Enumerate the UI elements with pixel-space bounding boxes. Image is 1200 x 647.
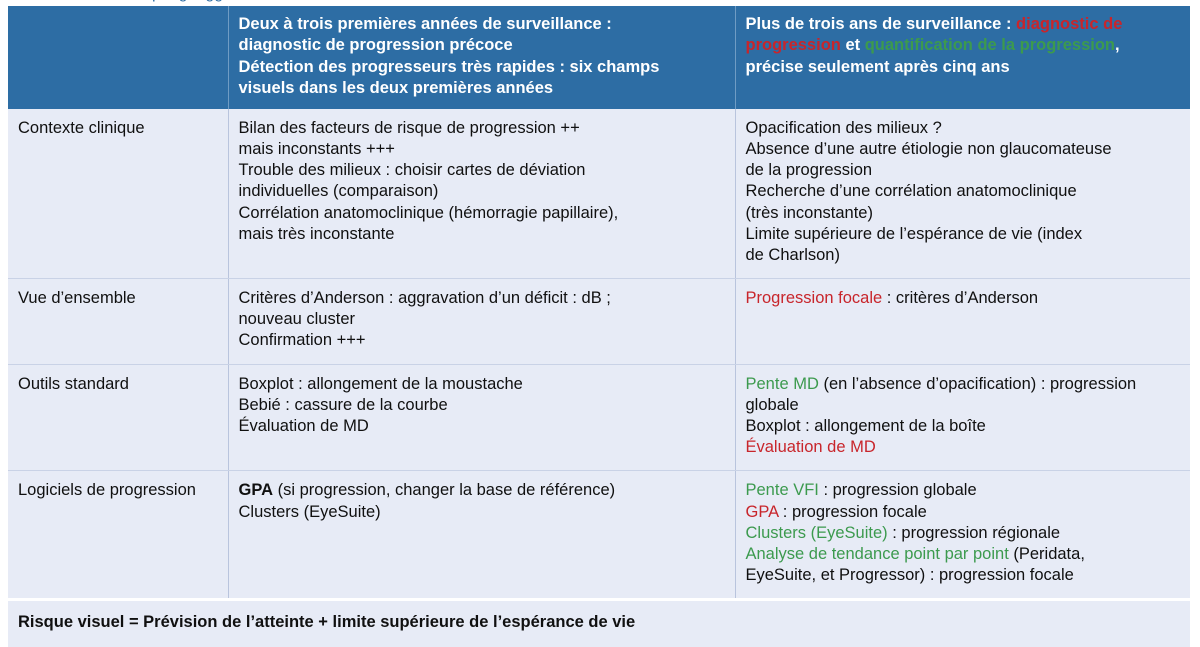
late-3-line-5-seg-1: EyeSuite, et Progressor) : progression f… <box>746 566 1074 584</box>
cell-late-surveillance: Opacification des milieux ?Absence d’une… <box>735 109 1190 279</box>
late-3-line-2: GPA : progression focale <box>746 502 1181 523</box>
early-1-line-3: Confirmation +++ <box>239 330 725 351</box>
early-3-line-2-seg-1: Clusters (EyeSuite) <box>239 503 381 521</box>
table-row: Logiciels de progressionGPA (si progress… <box>8 471 1190 600</box>
footer-row: Risque visuel = Prévision de l’atteinte … <box>8 600 1190 647</box>
row-label-cell: Vue d’ensemble <box>8 279 228 365</box>
row-label: Logiciels de progression <box>18 481 196 499</box>
cell-early-surveillance: Bilan des facteurs de risque de progress… <box>228 109 735 279</box>
footer-summary-text: Risque visuel = Prévision de l’atteinte … <box>8 600 1190 647</box>
late-0-line-6: Limite supérieure de l’espérance de vie … <box>746 224 1181 245</box>
early-0-line-1: Bilan des facteurs de risque de progress… <box>239 118 725 139</box>
late-0-line-5: (très inconstante) <box>746 203 1181 224</box>
table-header: Deux à trois premières années de surveil… <box>8 6 1190 109</box>
header-col3-seg1: Plus de trois ans de surveillance : <box>746 15 1017 33</box>
progression-table-container: Deux à trois premières années de surveil… <box>8 6 1190 647</box>
early-0-line-2: mais inconstants +++ <box>239 139 725 160</box>
late-2-line-1-seg-1: Pente MD <box>746 375 819 393</box>
header-col2-line4: visuels dans les deux premières années <box>239 78 725 99</box>
early-0-line-4: individuelles (comparaison) <box>239 181 725 202</box>
late-3-line-4-seg-2: (Peridata, <box>1009 545 1085 563</box>
late-2-line-2: globale <box>746 395 1181 416</box>
early-3-line-1: GPA (si progression, changer la base de … <box>239 480 725 501</box>
early-0-line-5: Corrélation anatomoclinique (hémorragie … <box>239 203 725 224</box>
late-3-line-1-seg-2: : progression globale <box>819 481 977 499</box>
cell-late-surveillance: Pente VFI : progression globaleGPA : pro… <box>735 471 1190 600</box>
late-3-line-1-seg-1: Pente VFI <box>746 481 819 499</box>
late-3-line-5: EyeSuite, et Progressor) : progression f… <box>746 565 1181 586</box>
late-3-line-4: Analyse de tendance point par point (Per… <box>746 544 1181 565</box>
late-2-line-4-seg-1: Évaluation de MD <box>746 438 876 456</box>
late-1-line-1-seg-2: : critères d’Anderson <box>882 289 1038 307</box>
early-3-line-2: Clusters (EyeSuite) <box>239 502 725 523</box>
cut-off-caption-text: p... g... gg... <box>152 0 237 3</box>
header-col2-line3: Détection des progresseurs très rapides … <box>239 57 725 78</box>
late-2-line-2-seg-1: globale <box>746 396 799 414</box>
table-body: Contexte cliniqueBilan des facteurs de r… <box>8 109 1190 600</box>
header-col2-line1: Deux à trois premières années de surveil… <box>239 14 725 35</box>
late-0-line-3: de la progression <box>746 160 1181 181</box>
header-col3-seg3: et <box>841 36 865 54</box>
cell-early-surveillance: Critères d’Anderson : aggravation d’un d… <box>228 279 735 365</box>
early-0-line-3: Trouble des milieux : choisir cartes de … <box>239 160 725 181</box>
late-3-line-3-seg-1: Clusters (EyeSuite) <box>746 524 888 542</box>
early-2-line-2: Bebié : cassure de la courbe <box>239 395 725 416</box>
late-0-line-7: de Charlson) <box>746 245 1181 266</box>
table-row: Contexte cliniqueBilan des facteurs de r… <box>8 109 1190 279</box>
table-row: Vue d’ensembleCritères d’Anderson : aggr… <box>8 279 1190 365</box>
header-col3-seg4: quantification de la progression <box>865 36 1115 54</box>
row-label-cell: Outils standard <box>8 364 228 471</box>
early-2-line-1: Boxplot : allongement de la moustache <box>239 374 725 395</box>
late-0-line-4: Recherche d’une corrélation anatomoclini… <box>746 181 1181 202</box>
late-1-line-1: Progression focale : critères d’Anderson <box>746 288 1181 309</box>
cut-off-caption-sliver: p... g... gg... <box>0 0 1200 5</box>
late-0-line-2: Absence d’une autre étiologie non glauco… <box>746 139 1181 160</box>
row-label-cell: Contexte clinique <box>8 109 228 279</box>
header-cell-empty <box>8 6 228 109</box>
late-2-line-3-seg-1: Boxplot : allongement de la boîte <box>746 417 986 435</box>
late-2-line-1-seg-2: (en l’absence d’opacification) : progres… <box>819 375 1136 393</box>
early-0-line-6: mais très inconstante <box>239 224 725 245</box>
late-3-line-4-seg-1: Analyse de tendance point par point <box>746 545 1009 563</box>
late-2-line-3: Boxplot : allongement de la boîte <box>746 416 1181 437</box>
late-1-line-1-seg-1: Progression focale <box>746 289 883 307</box>
row-label-cell: Logiciels de progression <box>8 471 228 600</box>
early-3-line-1-seg-1: GPA <box>239 481 274 499</box>
late-3-line-2-seg-2: : progression focale <box>778 503 927 521</box>
early-2-line-3: Évaluation de MD <box>239 416 725 437</box>
late-3-line-3-seg-2: : progression régionale <box>888 524 1060 542</box>
cell-late-surveillance: Progression focale : critères d’Anderson <box>735 279 1190 365</box>
row-label: Contexte clinique <box>18 119 145 137</box>
late-2-line-4: Évaluation de MD <box>746 437 1181 458</box>
row-label: Outils standard <box>18 375 129 393</box>
header-col2-line2: diagnostic de progression précoce <box>239 35 725 56</box>
late-3-line-1: Pente VFI : progression globale <box>746 480 1181 501</box>
header-cell-late-surveillance: Plus de trois ans de surveillance : diag… <box>735 6 1190 109</box>
cell-early-surveillance: GPA (si progression, changer la base de … <box>228 471 735 600</box>
early-1-line-2: nouveau cluster <box>239 309 725 330</box>
late-3-line-2-seg-1: GPA <box>746 503 779 521</box>
progression-comparison-table: Deux à trois premières années de surveil… <box>8 6 1190 647</box>
early-1-line-1: Critères d’Anderson : aggravation d’un d… <box>239 288 725 309</box>
table-row: Outils standardBoxplot : allongement de … <box>8 364 1190 471</box>
header-cell-early-surveillance: Deux à trois premières années de surveil… <box>228 6 735 109</box>
table-footer: Risque visuel = Prévision de l’atteinte … <box>8 600 1190 647</box>
cell-late-surveillance: Pente MD (en l’absence d’opacification) … <box>735 364 1190 471</box>
early-3-line-1-seg-2: (si progression, changer la base de réfé… <box>273 481 615 499</box>
header-row: Deux à trois premières années de surveil… <box>8 6 1190 109</box>
cell-early-surveillance: Boxplot : allongement de la moustacheBeb… <box>228 364 735 471</box>
late-0-line-1: Opacification des milieux ? <box>746 118 1181 139</box>
late-2-line-1: Pente MD (en l’absence d’opacification) … <box>746 374 1181 395</box>
row-label: Vue d’ensemble <box>18 289 136 307</box>
late-3-line-3: Clusters (EyeSuite) : progression région… <box>746 523 1181 544</box>
